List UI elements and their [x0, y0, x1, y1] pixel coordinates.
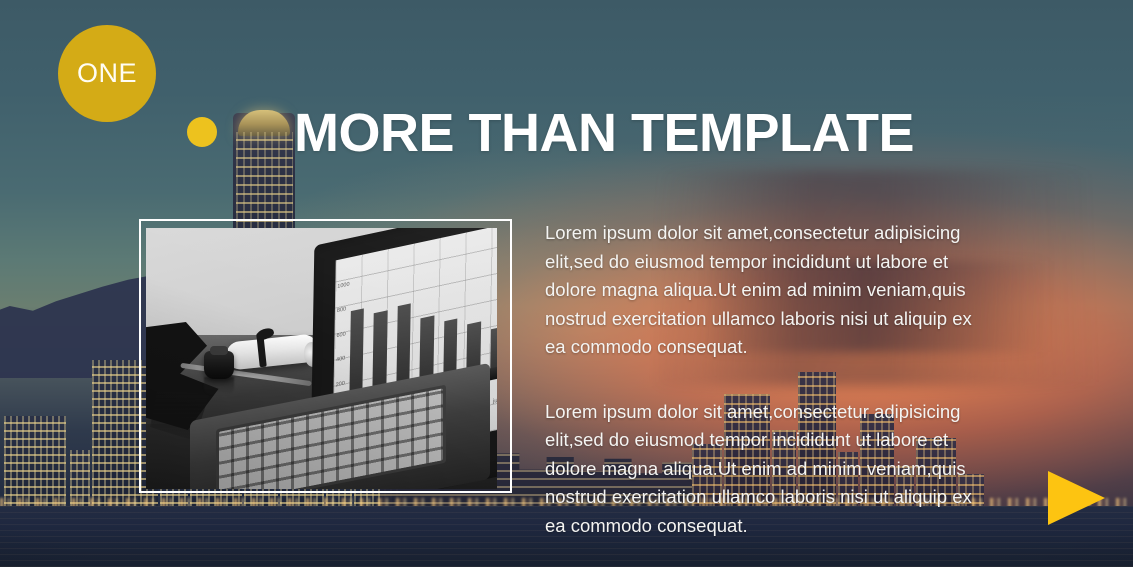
badge-accent-dot [187, 117, 217, 147]
laptop-desk-photo: 10008006004002000 janfebmaraprmeijunjul [146, 228, 497, 489]
body-text-block: Lorem ipsum dolor sit amet,consectetur a… [545, 219, 997, 540]
paragraph-2: Lorem ipsum dolor sit amet,consectetur a… [545, 398, 997, 541]
slide-number-badge: ONE [58, 25, 172, 135]
badge-label: ONE [58, 25, 156, 122]
photo-tone-overlay [146, 228, 497, 489]
slide-title: MORE THAN TEMPLATE [294, 106, 914, 160]
play-triangle-icon[interactable] [1048, 471, 1105, 525]
presentation-slide: ONE MORE THAN TEMPLATE 10008006004002000… [0, 0, 1133, 567]
paragraph-1: Lorem ipsum dolor sit amet,consectetur a… [545, 219, 997, 362]
